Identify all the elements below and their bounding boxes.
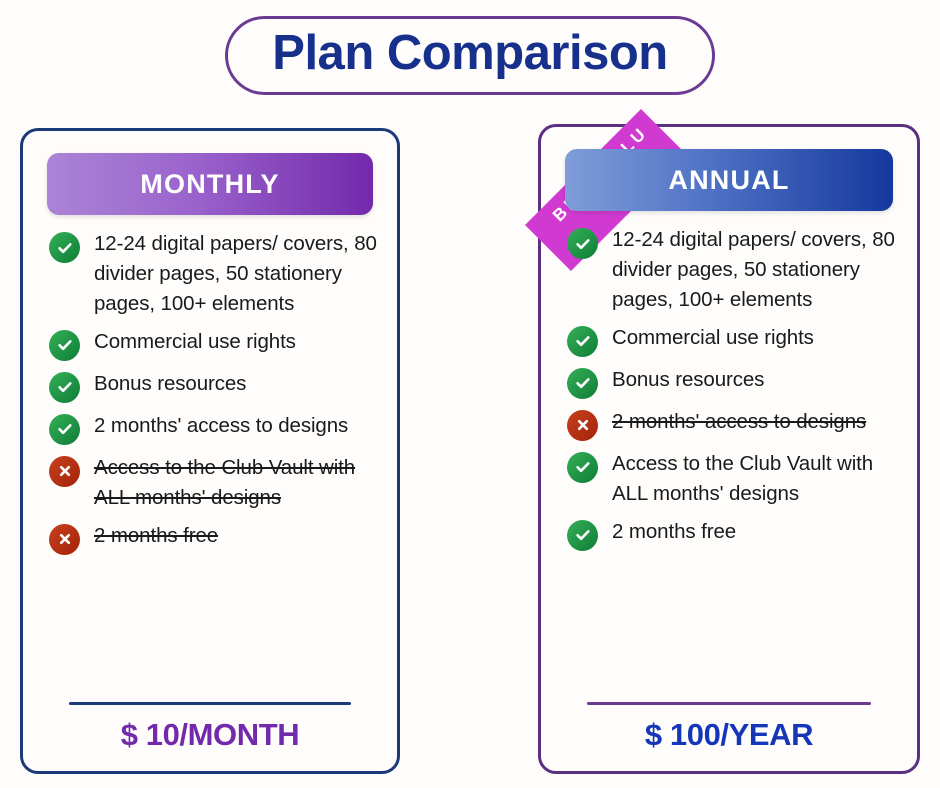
price-block-annual: $ 100/YEAR [561, 702, 897, 771]
plan-card-annual-body: ANNUAL 12-24 digital papers/ covers, 80 … [541, 127, 917, 771]
price-divider [587, 702, 871, 705]
check-icon [49, 330, 80, 361]
price-annual: $ 100/YEAR [561, 717, 897, 753]
list-item: Commercial use rights [567, 323, 897, 357]
list-item: 2 months free [49, 521, 377, 555]
feature-text: Access to the Club Vault with ALL months… [94, 453, 377, 513]
feature-text: Commercial use rights [94, 327, 296, 357]
plan-name-annual: ANNUAL [668, 165, 789, 196]
list-item: Bonus resources [49, 369, 377, 403]
check-icon [567, 520, 598, 551]
feature-text: 12-24 digital papers/ covers, 80 divider… [612, 225, 897, 315]
price-monthly: $ 10/MONTH [43, 717, 377, 753]
price-block-monthly: $ 10/MONTH [43, 702, 377, 771]
list-item: 2 months free [567, 517, 897, 551]
page-title-container: Plan Comparison [0, 16, 940, 95]
check-icon [567, 452, 598, 483]
check-icon [49, 372, 80, 403]
cross-icon [49, 456, 80, 487]
list-item: Access to the Club Vault with ALL months… [49, 453, 377, 513]
plan-comparison-page: Plan Comparison MONTHLY 12-24 digital pa… [0, 0, 940, 788]
list-item: Bonus resources [567, 365, 897, 399]
feature-text: Bonus resources [612, 365, 764, 395]
feature-text: Access to the Club Vault with ALL months… [612, 449, 897, 509]
feature-list-annual: 12-24 digital papers/ covers, 80 divider… [561, 225, 897, 702]
plan-banner-annual: ANNUAL [565, 149, 893, 211]
list-item: 12-24 digital papers/ covers, 80 divider… [49, 229, 377, 319]
feature-text: 2 months' access to designs [612, 407, 866, 437]
feature-text: 2 months free [612, 517, 736, 547]
list-item: 2 months' access to designs [49, 411, 377, 445]
feature-text: 12-24 digital papers/ covers, 80 divider… [94, 229, 377, 319]
plan-card-monthly[interactable]: MONTHLY 12-24 digital papers/ covers, 80… [20, 128, 400, 774]
plan-card-monthly-body: MONTHLY 12-24 digital papers/ covers, 80… [23, 131, 397, 771]
page-title: Plan Comparison [272, 27, 667, 80]
feature-text: Bonus resources [94, 369, 246, 399]
check-icon [567, 368, 598, 399]
check-icon [567, 228, 598, 259]
price-divider [69, 702, 351, 705]
check-icon [567, 326, 598, 357]
plan-card-annual[interactable]: BEST VALUE ANNUAL 12-24 digital papers/ … [538, 124, 920, 774]
feature-text: 2 months free [94, 521, 218, 551]
feature-list-monthly: 12-24 digital papers/ covers, 80 divider… [43, 229, 377, 702]
cross-icon [49, 524, 80, 555]
cross-icon [567, 410, 598, 441]
check-icon [49, 414, 80, 445]
plan-name-monthly: MONTHLY [140, 169, 279, 200]
plan-banner-monthly: MONTHLY [47, 153, 373, 215]
page-title-pill: Plan Comparison [225, 16, 714, 95]
feature-text: 2 months' access to designs [94, 411, 348, 441]
feature-text: Commercial use rights [612, 323, 814, 353]
check-icon [49, 232, 80, 263]
list-item: 2 months' access to designs [567, 407, 897, 441]
list-item: Access to the Club Vault with ALL months… [567, 449, 897, 509]
list-item: 12-24 digital papers/ covers, 80 divider… [567, 225, 897, 315]
list-item: Commercial use rights [49, 327, 377, 361]
